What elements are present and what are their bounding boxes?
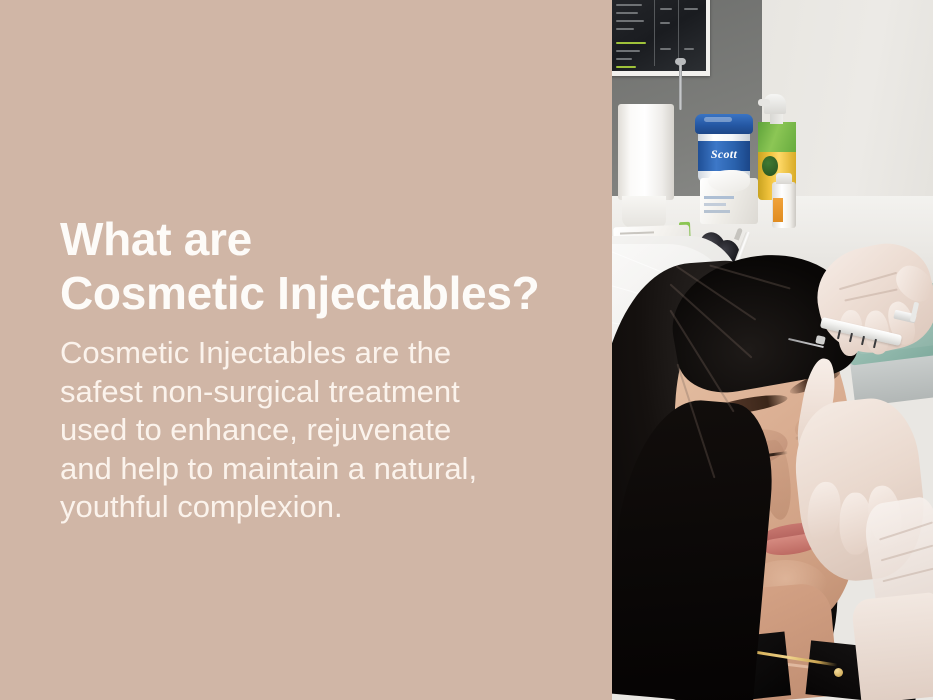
tissue-sheet	[708, 170, 750, 192]
syringe-needle-hub	[815, 335, 826, 345]
headline-line-2: Cosmetic Injectables?	[60, 266, 600, 320]
spray-bottle-badge-icon	[762, 156, 778, 176]
wipes-canister-lid-highlight	[704, 117, 732, 122]
body-line-3: used to enhance, rejuvenate	[60, 411, 580, 450]
tissue-box-label-line	[704, 196, 734, 199]
slide-root: What are Cosmetic Injectables? Cosmetic …	[0, 0, 933, 700]
paper-towel-roll	[618, 104, 674, 200]
clinician-forearm	[851, 592, 933, 700]
white-bottle-label	[773, 198, 783, 222]
body-copy: Cosmetic Injectables are the safest non-…	[60, 334, 580, 527]
wipes-canister-label: Scott	[700, 147, 748, 162]
headline-line-1: What are	[60, 212, 600, 266]
white-bottle-cap	[776, 173, 792, 184]
body-line-4: and help to maintain a natural,	[60, 450, 580, 489]
body-line-5: youthful complexion.	[60, 488, 580, 527]
body-line-2: safest non-surgical treatment	[60, 373, 580, 412]
paper-towel-rod	[679, 62, 682, 110]
tissue-box-label-line	[704, 203, 726, 206]
paper-towel-rod-cap	[675, 58, 686, 65]
spray-bottle-nozzle	[758, 99, 770, 106]
page-title: What are Cosmetic Injectables?	[60, 212, 600, 320]
necklace-charm	[834, 668, 843, 677]
treatment-photo: Scott	[612, 0, 933, 700]
tissue-box-label-line	[704, 210, 730, 213]
body-line-1: Cosmetic Injectables are the	[60, 334, 580, 373]
paper-towel-sheet	[622, 196, 666, 228]
spray-bottle-label	[758, 122, 796, 152]
poster-icon	[612, 0, 706, 71]
glove-finger	[805, 480, 843, 543]
text-panel: What are Cosmetic Injectables? Cosmetic …	[0, 0, 612, 700]
